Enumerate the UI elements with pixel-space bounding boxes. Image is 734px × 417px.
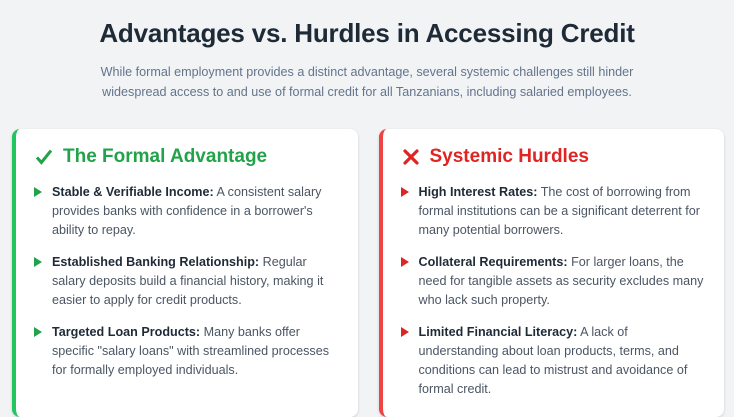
comparison-cards: The Formal Advantage Stable & Verifiable…	[12, 129, 724, 417]
page-subtitle: While formal employment provides a disti…	[87, 62, 647, 102]
triangle-right-icon	[34, 187, 42, 197]
list-item: Limited Financial Literacy: A lack of un…	[401, 323, 707, 399]
hurdles-bullet-list: High Interest Rates: The cost of borrowi…	[401, 183, 707, 399]
list-item: High Interest Rates: The cost of borrowi…	[401, 183, 707, 240]
bullet-label: Collateral Requirements:	[419, 255, 568, 269]
list-item: Collateral Requirements: For larger loan…	[401, 253, 707, 310]
bullet-label: Limited Financial Literacy:	[419, 325, 578, 339]
card-heading-text: The Formal Advantage	[63, 145, 267, 169]
card-formal-advantage: The Formal Advantage Stable & Verifiable…	[12, 129, 358, 417]
triangle-right-icon	[34, 327, 42, 337]
bullet-label: Stable & Verifiable Income:	[52, 185, 214, 199]
page-root: Advantages vs. Hurdles in Accessing Cred…	[0, 0, 734, 400]
check-icon	[34, 147, 54, 167]
list-item: Established Banking Relationship: Regula…	[34, 253, 340, 310]
card-heading-formal-advantage: The Formal Advantage	[34, 145, 340, 169]
list-item: Stable & Verifiable Income: A consistent…	[34, 183, 340, 240]
triangle-right-icon	[34, 257, 42, 267]
triangle-right-icon	[401, 327, 409, 337]
triangle-right-icon	[401, 187, 409, 197]
cross-icon	[401, 147, 421, 167]
triangle-right-icon	[401, 257, 409, 267]
card-heading-systemic-hurdles: Systemic Hurdles	[401, 145, 707, 169]
bullet-label: High Interest Rates:	[419, 185, 538, 199]
card-systemic-hurdles: Systemic Hurdles High Interest Rates: Th…	[379, 129, 725, 417]
page-header: Advantages vs. Hurdles in Accessing Cred…	[0, 0, 734, 102]
page-title: Advantages vs. Hurdles in Accessing Cred…	[60, 16, 674, 50]
advantage-bullet-list: Stable & Verifiable Income: A consistent…	[34, 183, 340, 380]
card-heading-text: Systemic Hurdles	[430, 145, 589, 169]
list-item: Targeted Loan Products: Many banks offer…	[34, 323, 340, 380]
bullet-label: Established Banking Relationship:	[52, 255, 259, 269]
bullet-label: Targeted Loan Products:	[52, 325, 200, 339]
